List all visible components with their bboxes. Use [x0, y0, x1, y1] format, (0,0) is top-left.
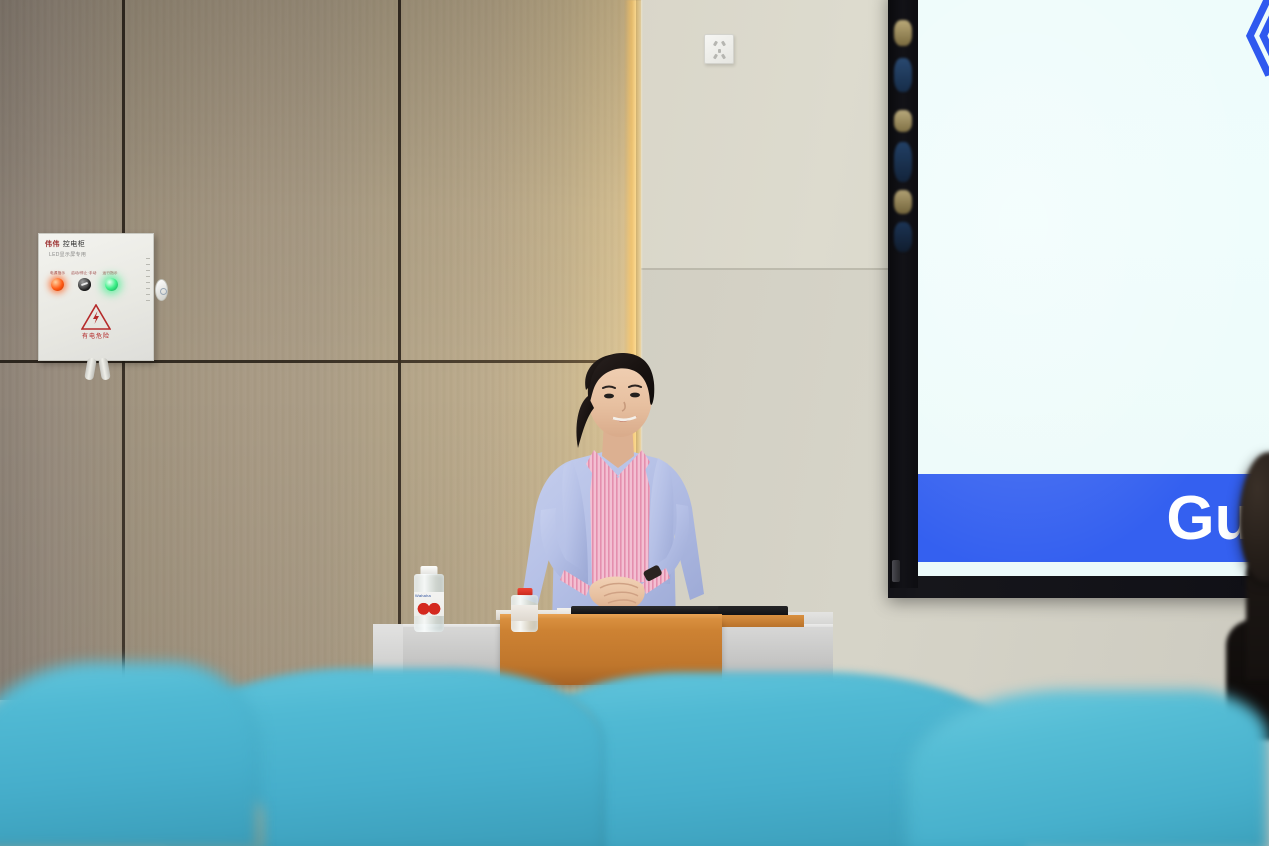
- lecture-hall-photo: 伟伟 控电柜 LED显示屏专用 电源指示 启动/停止·手动 运行指示 有电危险: [0, 0, 1269, 846]
- podium-shelf: [719, 615, 804, 627]
- water-bottle-small[interactable]: [511, 588, 538, 632]
- bezel-reflection: [894, 110, 912, 132]
- water-bottle-large[interactable]: Wahaha: [414, 566, 444, 632]
- control-cabinet-brand: 伟伟: [45, 240, 60, 248]
- bezel-reflection: [894, 20, 912, 46]
- bezel-reflection: [894, 142, 912, 182]
- reset-button[interactable]: [155, 279, 168, 301]
- power-indicator-lamp-icon: [51, 278, 64, 291]
- auditorium-seat-front-right: [905, 690, 1269, 846]
- bottle-label: Wahaha: [414, 592, 444, 616]
- lamp-label-row: 电源指示 启动/停止·手动 运行指示: [50, 271, 150, 276]
- vent-slots: [146, 258, 150, 302]
- wood-panel-seam-2: [398, 0, 401, 700]
- socket-slot-1: [713, 41, 718, 47]
- socket-slot-4: [713, 54, 718, 60]
- screen-side-button[interactable]: [892, 560, 900, 582]
- socket-slot-5: [721, 54, 726, 60]
- lamp-label-run: 运行指示: [103, 271, 118, 276]
- led-control-cabinet[interactable]: 伟伟 控电柜 LED显示屏专用 电源指示 启动/停止·手动 运行指示 有电危险: [38, 233, 154, 361]
- socket-slot-3: [718, 49, 721, 53]
- wall-power-socket[interactable]: [704, 34, 734, 64]
- run-indicator-lamp-icon: [105, 278, 118, 291]
- slide-bottom-banner: Gua: [918, 474, 1269, 562]
- auditorium-seat-left: [0, 662, 260, 846]
- bottle-label: [511, 605, 538, 621]
- control-cabinet-title: 伟伟 控电柜: [45, 239, 85, 249]
- lamp-label-selector: 启动/停止·手动: [71, 271, 96, 276]
- selector-knob-icon[interactable]: [78, 278, 91, 291]
- bezel-reflection: [894, 190, 912, 214]
- control-cabinet-title-main: 控电柜: [63, 240, 86, 248]
- bezel-reflection: [894, 58, 912, 92]
- presentation-slide: OCEAN U 《 Gua: [918, 0, 1269, 576]
- indicator-lamp-row: [51, 278, 118, 291]
- socket-slot-2: [721, 41, 726, 47]
- lamp-label-power: 电源指示: [50, 271, 65, 276]
- screen-bezel-left: [890, 0, 918, 588]
- bottle-brand-text: Wahaha: [415, 593, 431, 598]
- presenter-figure: [508, 352, 720, 627]
- bezel-reflection: [894, 222, 912, 252]
- control-cabinet-subtitle: LED显示屏专用: [49, 251, 86, 258]
- electric-hazard-icon: [81, 304, 111, 330]
- slide-title-book-mark: 《: [1203, 6, 1269, 73]
- hazard-warning-text: 有电危险: [82, 331, 110, 340]
